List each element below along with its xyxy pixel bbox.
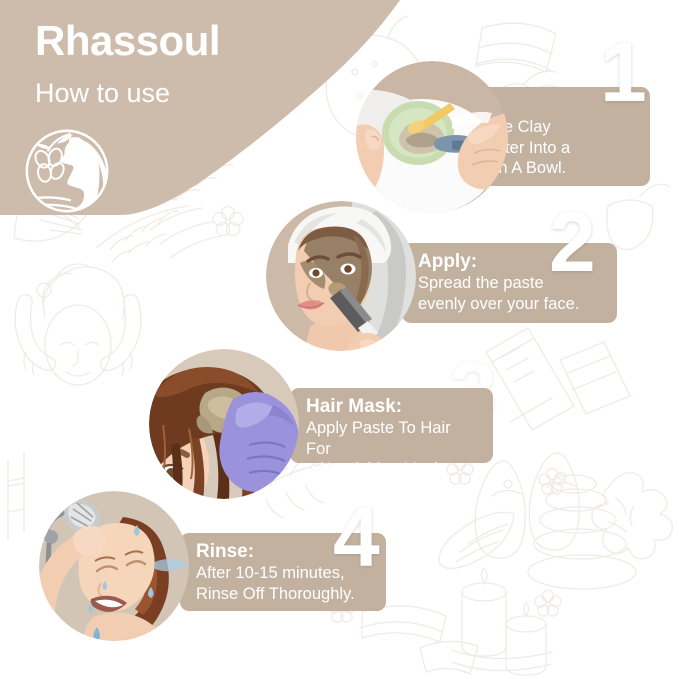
bg-cosmetic-tube-icon [486, 328, 574, 430]
bg-candles-icon [452, 568, 552, 675]
brand-logo [18, 122, 116, 220]
bg-zen-stones-icon [528, 475, 636, 589]
step-heading-3: Hair Mask: [306, 397, 479, 418]
page-title-word-2: Clay [220, 17, 307, 64]
bg-feather-leaf-icon [439, 512, 514, 568]
step-body-line-2: evenly over your face. [418, 294, 603, 315]
bg-cream-jar-icon [560, 342, 630, 414]
step-number-2: 2 [549, 208, 596, 277]
step-image-3 [149, 349, 299, 499]
infographic-canvas: RhassoulClay How to use [0, 0, 679, 679]
bg-mortar-icon [607, 184, 670, 249]
step-body-line-2: Rinse Off Thoroughly. [196, 584, 372, 605]
bg-folded-towel-icon [476, 23, 556, 72]
bg-ginger-root-icon [592, 473, 672, 559]
step-body-line-1: Apply Paste To Hair For [306, 418, 479, 459]
step-image-2 [266, 201, 416, 351]
bg-woman-towel-icon [15, 264, 141, 385]
step-number-4: 4 [333, 503, 380, 572]
step-text-box-3: Hair Mask: Apply Paste To Hair For a Nou… [290, 388, 493, 463]
page-subtitle: How to use [35, 78, 170, 109]
step-image-4 [39, 491, 189, 641]
page-title-word-1: Rhassoul [35, 17, 220, 64]
page-title: RhassoulClay [35, 20, 307, 62]
step-image-1 [356, 61, 508, 213]
step-body-line-2: a Nourishing Mask [306, 459, 479, 480]
bg-bamboo-icon [8, 452, 24, 540]
bg-spa-bowl-icon [420, 641, 478, 674]
step-number-1: 1 [600, 38, 647, 107]
